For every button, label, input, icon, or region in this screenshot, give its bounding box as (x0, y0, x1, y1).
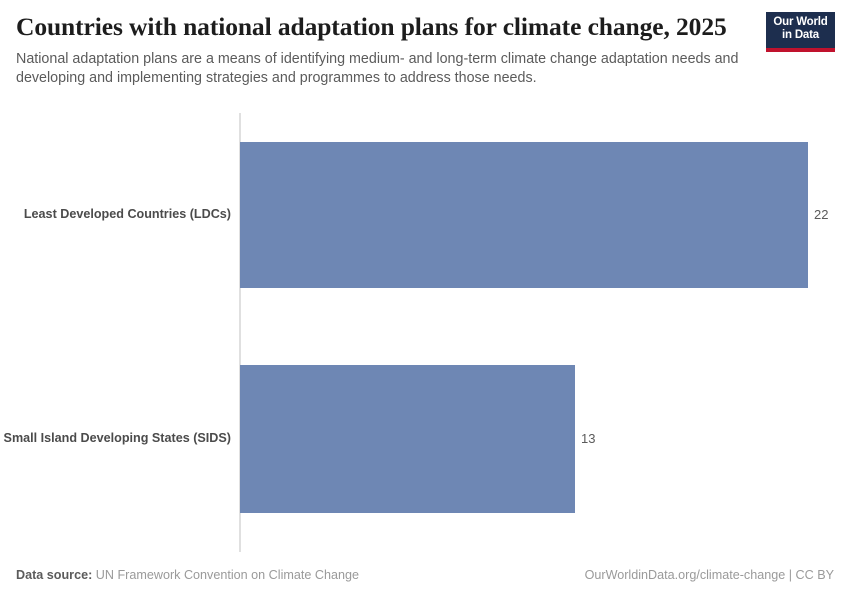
data-source-note: Data source: UN Framework Convention on … (16, 568, 359, 582)
chart-plot-area: Least Developed Countries (LDCs) 22 Smal… (0, 0, 850, 560)
bar-category-label-ldcs: Least Developed Countries (LDCs) (24, 207, 231, 221)
owid-url-license[interactable]: OurWorldinData.org/climate-change | CC B… (585, 568, 834, 582)
data-source-label: Data source: (16, 568, 92, 582)
data-source-value: UN Framework Convention on Climate Chang… (92, 568, 359, 582)
bar-value-label-ldcs: 22 (814, 207, 828, 222)
bar-ldcs[interactable] (240, 142, 808, 288)
bar-sids[interactable] (240, 365, 575, 513)
bar-group-ldcs[interactable]: Least Developed Countries (LDCs) 22 (0, 142, 850, 288)
bar-category-label-sids: Small Island Developing States (SIDS) (4, 431, 231, 445)
chart-footer: Data source: UN Framework Convention on … (0, 560, 850, 600)
bar-group-sids[interactable]: Small Island Developing States (SIDS) 13 (0, 365, 850, 513)
bar-value-label-sids: 13 (581, 431, 595, 446)
